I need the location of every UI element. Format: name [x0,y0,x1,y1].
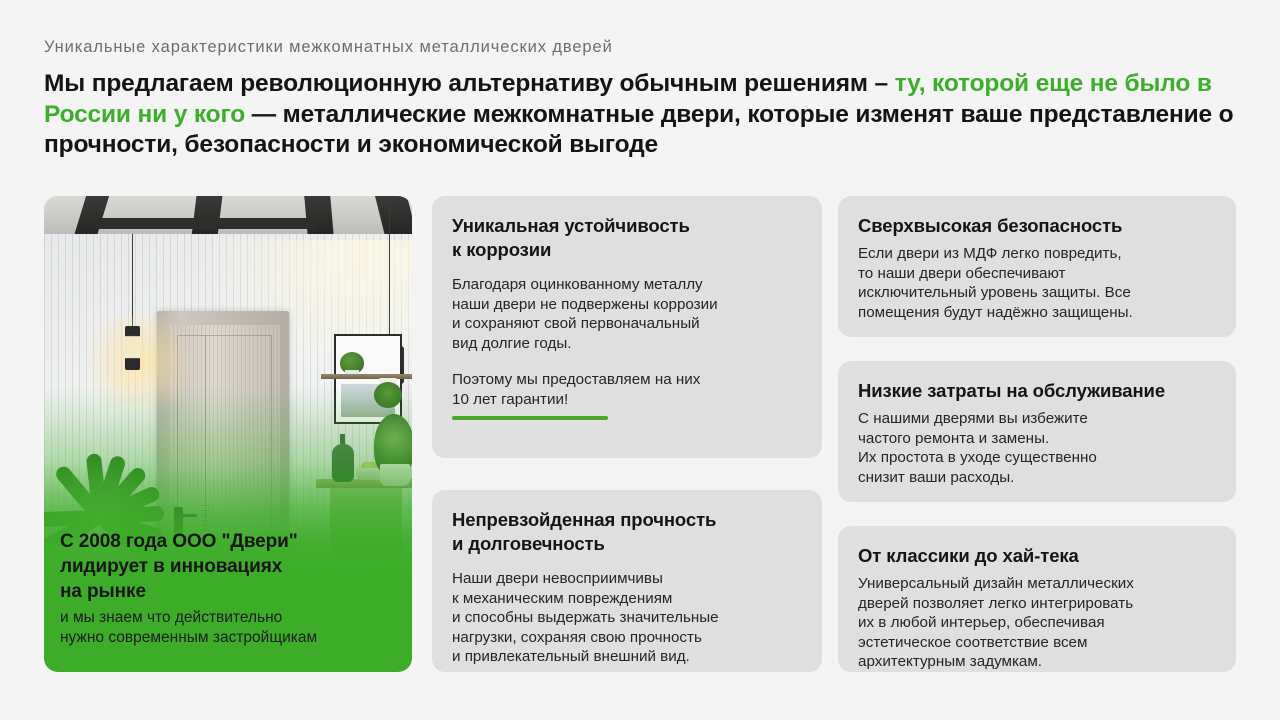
card-design[interactable]: От классики до хай-тека Универсальный ди… [838,526,1236,672]
card-security-body: Если двери из МДФ легко повредить, то на… [858,244,1216,322]
photo-caption-subtitle: и мы знаем что действительно нужно совре… [60,608,398,648]
card-strength[interactable]: Непревзойденная прочность и долговечност… [432,490,822,672]
middle-column: Уникальная устойчивость к коррозии Благо… [432,196,822,672]
page-title: Мы предлагаем революционную альтернативу… [44,69,1236,161]
card-costs[interactable]: Низкие затраты на обслуживание С нашими … [838,361,1236,502]
card-corrosion-body: Благодаря оцинкованному металлу наши две… [452,275,802,353]
card-security-title: Сверхвысокая безопасность [858,214,1216,238]
photo-column: С 2008 года ООО "Двери" лидирует в иннов… [44,196,412,672]
card-strength-title: Непревзойденная прочность и долговечност… [452,508,802,556]
card-corrosion-accent-underline [452,416,608,420]
headline-segment-1: Мы предлагаем революционную альтернативу… [44,70,895,97]
photo-card: С 2008 года ООО "Двери" лидирует в иннов… [44,196,412,672]
photo-caption-title: С 2008 года ООО "Двери" лидирует в иннов… [60,529,398,604]
photo-caption: С 2008 года ООО "Двери" лидирует в иннов… [60,529,398,648]
card-design-title: От классики до хай-тека [858,544,1216,568]
card-security[interactable]: Сверхвысокая безопасность Если двери из … [838,196,1236,337]
card-design-body: Универсальный дизайн металлических двере… [858,574,1216,672]
eyebrow-text: Уникальные характеристики межкомнатных м… [44,38,613,57]
card-corrosion-title: Уникальная устойчивость к коррозии [452,214,802,262]
slide-root: Уникальные характеристики межкомнатных м… [0,0,1280,720]
card-corrosion-body-2: Поэтому мы предоставляем на них 10 лет г… [452,370,802,409]
card-strength-body: Наши двери невосприимчивы к механическим… [452,569,802,667]
card-costs-title: Низкие затраты на обслуживание [858,379,1216,403]
cards-grid: С 2008 года ООО "Двери" лидирует в иннов… [44,196,1236,672]
card-corrosion[interactable]: Уникальная устойчивость к коррозии Благо… [432,196,822,458]
card-costs-body: С нашими дверями вы избежите частого рем… [858,409,1216,487]
right-column: Сверхвысокая безопасность Если двери из … [838,196,1236,672]
